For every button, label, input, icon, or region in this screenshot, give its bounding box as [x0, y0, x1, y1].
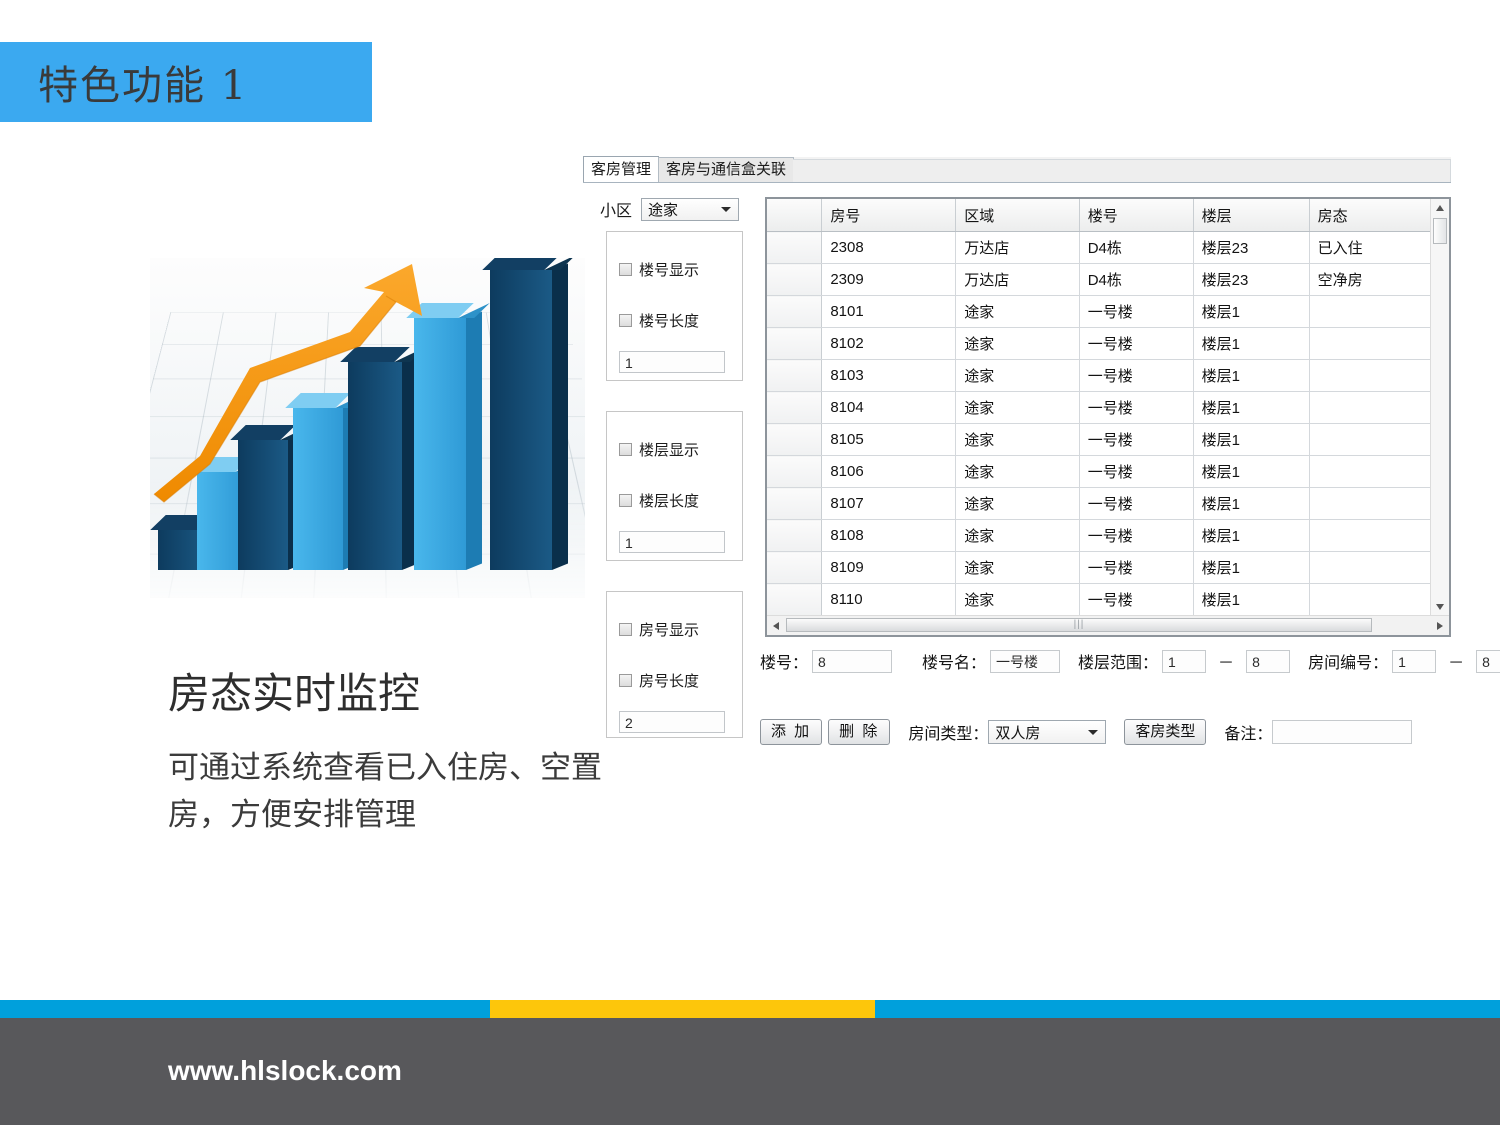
cell-area: 途家 [956, 392, 1079, 424]
building-number-length-input[interactable]: 1 [619, 351, 725, 373]
row-selector[interactable] [767, 360, 822, 392]
cell-room-no: 8106 [822, 456, 956, 488]
building-number-length-row[interactable]: 楼号长度 [619, 311, 742, 329]
building-no-input[interactable]: 8 [812, 650, 892, 673]
vertical-scroll-thumb[interactable] [1433, 218, 1447, 244]
row-selector[interactable] [767, 552, 822, 584]
table-row[interactable]: 2309万达店D4栋楼层23空净房 [767, 264, 1431, 296]
tab-strip-filler [793, 159, 1451, 182]
actions-row: 添 加 删 除 房间类型： 双人房 客房类型 备注： [760, 719, 1412, 745]
building-name-label: 楼号名： [922, 649, 986, 673]
row-selector[interactable] [767, 328, 822, 360]
horizontal-scroll-thumb[interactable]: ||| [786, 618, 1372, 632]
cell-state [1309, 392, 1430, 424]
cell-floor: 楼层1 [1193, 328, 1309, 360]
cell-state [1309, 328, 1430, 360]
room-type-dropdown[interactable]: 双人房 [988, 720, 1106, 744]
floor-length-label: 楼层长度 [639, 490, 699, 511]
floor-show-checkbox[interactable] [619, 443, 632, 456]
row-selector[interactable] [767, 232, 822, 264]
table-row[interactable]: 8104途家一号楼楼层1 [767, 392, 1431, 424]
add-button[interactable]: 添 加 [760, 719, 822, 745]
room-no-range-label: 房间编号： [1308, 649, 1388, 673]
estate-dropdown[interactable]: 途家 [641, 198, 739, 221]
room-number-show-checkbox[interactable] [619, 623, 632, 636]
floor-options-group: 楼层显示 楼层长度 1 [606, 411, 743, 561]
row-selector[interactable] [767, 424, 822, 456]
scroll-thumb-grip-icon: ||| [1074, 620, 1085, 630]
cell-floor: 楼层1 [1193, 552, 1309, 584]
footer-bar-blue-left [0, 1000, 490, 1018]
building-number-show-row[interactable]: 楼号显示 [619, 260, 742, 278]
room-no-to-input[interactable]: 8 [1476, 650, 1500, 673]
cell-room-no: 8108 [822, 520, 956, 552]
cell-building: D4栋 [1079, 232, 1193, 264]
cell-building: 一号楼 [1079, 488, 1193, 520]
cell-building: 一号楼 [1079, 392, 1193, 424]
footer-bar-yellow [490, 1000, 875, 1018]
table-row[interactable]: 8109途家一号楼楼层1 [767, 552, 1431, 584]
cell-area: 途家 [956, 584, 1079, 616]
cell-area: 途家 [956, 456, 1079, 488]
room-no-range-dash: － [1448, 649, 1464, 673]
chevron-down-icon [721, 207, 731, 212]
room-management-app-window: 客房管理 客房与通信盒关联 小区 途家 楼号显示 楼号长度 1 楼层显示 楼层长… [583, 157, 1451, 757]
scroll-left-icon[interactable] [773, 622, 779, 630]
grid-vertical-scrollbar[interactable] [1430, 199, 1449, 616]
room-category-button[interactable]: 客房类型 [1124, 719, 1206, 745]
cell-building: 一号楼 [1079, 552, 1193, 584]
row-selector[interactable] [767, 264, 822, 296]
footer-color-bars [0, 1000, 1500, 1018]
cell-state [1309, 424, 1430, 456]
table-row[interactable]: 8108途家一号楼楼层1 [767, 520, 1431, 552]
cell-floor: 楼层1 [1193, 392, 1309, 424]
building-number-length-label: 楼号长度 [639, 310, 699, 331]
cell-floor: 楼层1 [1193, 296, 1309, 328]
room-no-from-input[interactable]: 1 [1392, 650, 1436, 673]
cell-area: 途家 [956, 488, 1079, 520]
grid-col-building[interactable]: 楼号 [1079, 199, 1193, 232]
cell-floor: 楼层23 [1193, 232, 1309, 264]
cell-state [1309, 520, 1430, 552]
grid-col-floor[interactable]: 楼层 [1193, 199, 1309, 232]
grid-col-room-no[interactable]: 房号 [822, 199, 956, 232]
grid-col-state[interactable]: 房态 [1309, 199, 1430, 232]
cell-state: 已入住 [1309, 232, 1430, 264]
scroll-right-icon[interactable] [1437, 622, 1443, 630]
cell-floor: 楼层1 [1193, 424, 1309, 456]
table-row[interactable]: 8102途家一号楼楼层1 [767, 328, 1431, 360]
grid-horizontal-scrollbar[interactable]: ||| [767, 615, 1449, 635]
room-number-show-label: 房号显示 [639, 619, 699, 640]
cell-building: 一号楼 [1079, 424, 1193, 456]
table-row[interactable]: 8106途家一号楼楼层1 [767, 456, 1431, 488]
floor-length-row[interactable]: 楼层长度 [619, 491, 742, 509]
upward-trend-arrow-icon [150, 258, 585, 598]
room-number-length-checkbox[interactable] [619, 674, 632, 687]
row-selector[interactable] [767, 584, 822, 616]
growth-chart-illustration [150, 258, 585, 598]
tab-room-commbox-link[interactable]: 客房与通信盒关联 [658, 157, 794, 182]
rooms-data-grid-viewport: 房号 区域 楼号 楼层 房态 2308万达店D4栋楼层23已入住 2309万达店… [767, 199, 1431, 616]
cell-building: 一号楼 [1079, 456, 1193, 488]
building-number-options-group: 楼号显示 楼号长度 1 [606, 231, 743, 381]
cell-building: 一号楼 [1079, 328, 1193, 360]
cell-building: 一号楼 [1079, 584, 1193, 616]
tab-bar: 客房管理 客房与通信盒关联 [583, 157, 1451, 183]
cell-state [1309, 488, 1430, 520]
floor-range-label: 楼层范围： [1078, 649, 1158, 673]
table-row[interactable]: 8101途家一号楼楼层1 [767, 296, 1431, 328]
cell-floor: 楼层1 [1193, 360, 1309, 392]
cell-room-no: 8101 [822, 296, 956, 328]
building-number-show-label: 楼号显示 [639, 259, 699, 280]
cell-floor: 楼层23 [1193, 264, 1309, 296]
cell-state: 空净房 [1309, 264, 1430, 296]
estate-label: 小区 [600, 197, 632, 221]
room-number-length-row[interactable]: 房号长度 [619, 671, 742, 689]
floor-show-row[interactable]: 楼层显示 [619, 440, 742, 458]
floor-range-from-input[interactable]: 1 [1162, 650, 1206, 673]
cell-area: 途家 [956, 360, 1079, 392]
cell-area: 途家 [956, 424, 1079, 456]
page-title: 特色功能 1 [38, 53, 248, 111]
row-selector[interactable] [767, 296, 822, 328]
cell-room-no: 8109 [822, 552, 956, 584]
row-selector[interactable] [767, 456, 822, 488]
cell-area: 途家 [956, 328, 1079, 360]
cell-room-no: 2309 [822, 264, 956, 296]
cell-room-no: 8103 [822, 360, 956, 392]
cell-room-no: 8105 [822, 424, 956, 456]
scroll-up-icon[interactable] [1436, 205, 1444, 211]
building-no-label: 楼号： [760, 649, 808, 673]
cell-floor: 楼层1 [1193, 584, 1309, 616]
estate-dropdown-value: 途家 [642, 199, 678, 220]
cell-room-no: 8107 [822, 488, 956, 520]
cell-building: 一号楼 [1079, 360, 1193, 392]
delete-button[interactable]: 删 除 [828, 719, 890, 745]
room-number-options-group: 房号显示 房号长度 2 [606, 591, 743, 738]
room-number-length-label: 房号长度 [639, 670, 699, 691]
floor-length-input[interactable]: 1 [619, 531, 725, 553]
table-row[interactable]: 2308万达店D4栋楼层23已入住 [767, 232, 1431, 264]
cell-area: 途家 [956, 552, 1079, 584]
room-type-dropdown-value: 双人房 [989, 722, 1040, 743]
table-row[interactable]: 8107途家一号楼楼层1 [767, 488, 1431, 520]
cell-building: 一号楼 [1079, 296, 1193, 328]
note-label: 备注： [1224, 720, 1272, 744]
row-selector[interactable] [767, 392, 822, 424]
cell-state [1309, 552, 1430, 584]
building-name-input[interactable]: 一号楼 [990, 650, 1060, 673]
floor-length-checkbox[interactable] [619, 494, 632, 507]
feature-heading: 房态实时监控 [168, 660, 420, 721]
footer-website-url: www.hlslock.com [168, 1055, 402, 1087]
grid-col-area[interactable]: 区域 [956, 199, 1079, 232]
tab-room-management[interactable]: 客房管理 [583, 156, 659, 182]
cell-state [1309, 296, 1430, 328]
table-row[interactable]: 8105途家一号楼楼层1 [767, 424, 1431, 456]
building-range-form-row: 楼号： 8 楼号名： 一号楼 楼层范围： 1 － 8 房间编号： 1 － 8 [760, 649, 1500, 673]
cell-area: 万达店 [956, 232, 1079, 264]
grid-body: 2308万达店D4栋楼层23已入住 2309万达店D4栋楼层23空净房 8101… [767, 232, 1431, 617]
room-number-show-row[interactable]: 房号显示 [619, 620, 742, 638]
cell-room-no: 8110 [822, 584, 956, 616]
floor-range-dash: － [1218, 649, 1234, 673]
room-number-length-input[interactable]: 2 [619, 711, 725, 733]
cell-floor: 楼层1 [1193, 456, 1309, 488]
cell-state [1309, 360, 1430, 392]
cell-state [1309, 456, 1430, 488]
chevron-down-icon [1088, 730, 1098, 735]
cell-floor: 楼层1 [1193, 520, 1309, 552]
note-input[interactable] [1272, 720, 1412, 744]
floor-range-to-input[interactable]: 8 [1246, 650, 1290, 673]
building-number-length-checkbox[interactable] [619, 314, 632, 327]
cell-room-no: 8104 [822, 392, 956, 424]
cell-room-no: 8102 [822, 328, 956, 360]
grid-row-selector-header [767, 199, 822, 232]
feature-description: 可通过系统查看已入住房、空置房，方便安排管理 [168, 745, 648, 838]
row-selector[interactable] [767, 520, 822, 552]
cell-building: D4栋 [1079, 264, 1193, 296]
table-row[interactable]: 8110途家一号楼楼层1 [767, 584, 1431, 616]
cell-area: 途家 [956, 520, 1079, 552]
estate-selector-row: 小区 途家 [600, 197, 739, 221]
cell-state [1309, 584, 1430, 616]
slide-title-banner: 特色功能 1 [0, 42, 372, 122]
table-row[interactable]: 8103途家一号楼楼层1 [767, 360, 1431, 392]
cell-building: 一号楼 [1079, 520, 1193, 552]
cell-area: 途家 [956, 296, 1079, 328]
cell-area: 万达店 [956, 264, 1079, 296]
cell-floor: 楼层1 [1193, 488, 1309, 520]
floor-show-label: 楼层显示 [639, 439, 699, 460]
building-number-show-checkbox[interactable] [619, 263, 632, 276]
grid-header-row: 房号 区域 楼号 楼层 房态 [767, 199, 1431, 232]
room-type-label: 房间类型： [908, 720, 988, 744]
row-selector[interactable] [767, 488, 822, 520]
scroll-down-icon[interactable] [1436, 604, 1444, 610]
footer-bar-blue-right [875, 1000, 1500, 1018]
cell-room-no: 2308 [822, 232, 956, 264]
rooms-data-grid[interactable]: 房号 区域 楼号 楼层 房态 2308万达店D4栋楼层23已入住 2309万达店… [765, 197, 1451, 637]
